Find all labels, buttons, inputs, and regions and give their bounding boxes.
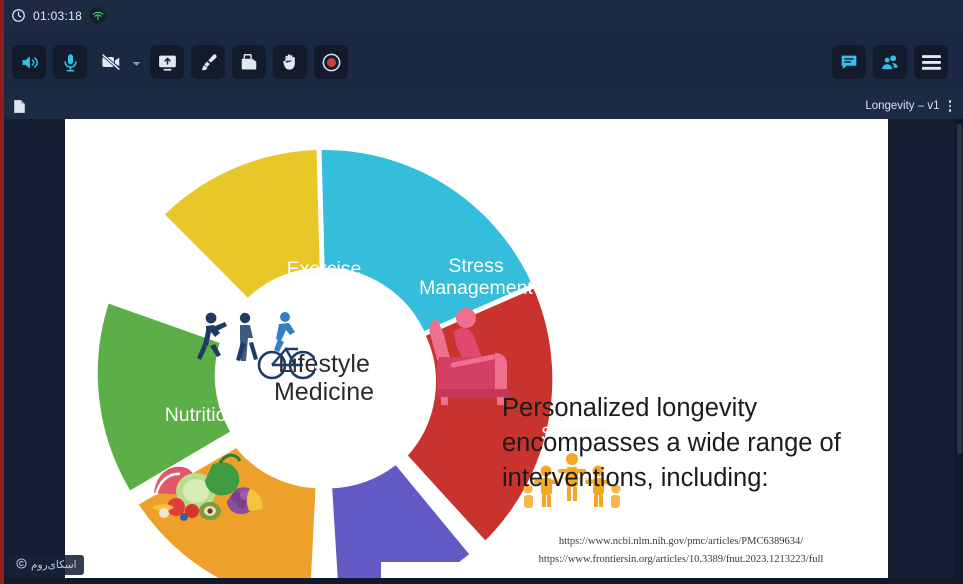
segment-label-nutrition: Nutrition xyxy=(131,405,271,427)
record-button[interactable] xyxy=(314,45,348,79)
slide-canvas[interactable]: Lifestyle Medicine Exercise Stress Manag… xyxy=(65,119,888,584)
briefcase-icon xyxy=(239,52,259,72)
document-icon xyxy=(13,99,26,114)
camera-dropdown-button[interactable] xyxy=(129,47,143,77)
files-button[interactable] xyxy=(232,45,266,79)
camera-control-group xyxy=(94,45,143,79)
participants-button[interactable] xyxy=(873,45,907,79)
chat-button[interactable] xyxy=(832,45,866,79)
chevron-down-icon xyxy=(132,55,141,70)
hub-line-2: Medicine xyxy=(274,378,374,406)
hand-icon xyxy=(280,52,300,72)
menu-button[interactable] xyxy=(914,45,948,79)
speaker-button[interactable] xyxy=(12,45,46,79)
bottom-rail xyxy=(0,578,963,584)
segment-label-exercise: Exercise xyxy=(248,259,400,281)
microphone-button[interactable] xyxy=(53,45,87,79)
meeting-window: 01:03:18 xyxy=(0,0,963,584)
document-title: Longevity – v1 xyxy=(865,100,939,112)
hamburger-icon xyxy=(921,54,942,71)
toolbar-right-group xyxy=(832,45,948,79)
people-icon xyxy=(880,52,901,73)
slide-body-text: Personalized longevity encompasses a wid… xyxy=(502,391,854,496)
armchair-art xyxy=(423,305,521,405)
citation-2[interactable]: https://www.frontiersin.org/articles/10.… xyxy=(495,551,867,569)
kebab-menu-icon[interactable] xyxy=(947,97,954,115)
copyright-icon xyxy=(16,558,27,572)
camera-off-icon xyxy=(100,51,122,73)
status-bar: 01:03:18 xyxy=(0,0,963,31)
fruits-vegetables-art xyxy=(150,449,268,521)
watermark: اسکای‌روم xyxy=(9,555,84,575)
raise-hand-button[interactable] xyxy=(273,45,307,79)
brush-icon xyxy=(198,52,219,73)
wifi-signal-icon xyxy=(89,7,106,24)
toolbar-left-group xyxy=(12,45,348,79)
record-icon xyxy=(321,52,342,73)
clock-icon xyxy=(11,8,26,23)
camera-off-button[interactable] xyxy=(94,45,128,79)
left-edge-accent xyxy=(0,0,4,584)
slide-citations: https://www.ncbi.nlm.nih.gov/pmc/article… xyxy=(495,533,867,569)
document-title-group[interactable]: Longevity – v1 xyxy=(865,97,953,115)
chat-bubble-icon xyxy=(839,52,859,72)
session-timer: 01:03:18 xyxy=(33,9,82,23)
share-screen-button[interactable] xyxy=(150,45,184,79)
segment-label-stress: Stress Management xyxy=(396,256,556,300)
screen-share-icon xyxy=(157,52,178,73)
presentation-stage: Lifestyle Medicine Exercise Stress Manag… xyxy=(4,119,955,584)
shared-document-bar: Longevity – v1 xyxy=(0,93,963,119)
whiteboard-button[interactable] xyxy=(191,45,225,79)
citation-1[interactable]: https://www.ncbi.nlm.nih.gov/pmc/article… xyxy=(495,533,867,551)
exercise-figures-art xyxy=(193,309,315,381)
speaker-icon xyxy=(19,52,40,73)
vertical-scrollbar-thumb[interactable] xyxy=(957,124,962,454)
microphone-icon xyxy=(60,52,81,73)
watermark-text: اسکای‌روم xyxy=(31,559,77,571)
meeting-toolbar xyxy=(0,31,963,93)
